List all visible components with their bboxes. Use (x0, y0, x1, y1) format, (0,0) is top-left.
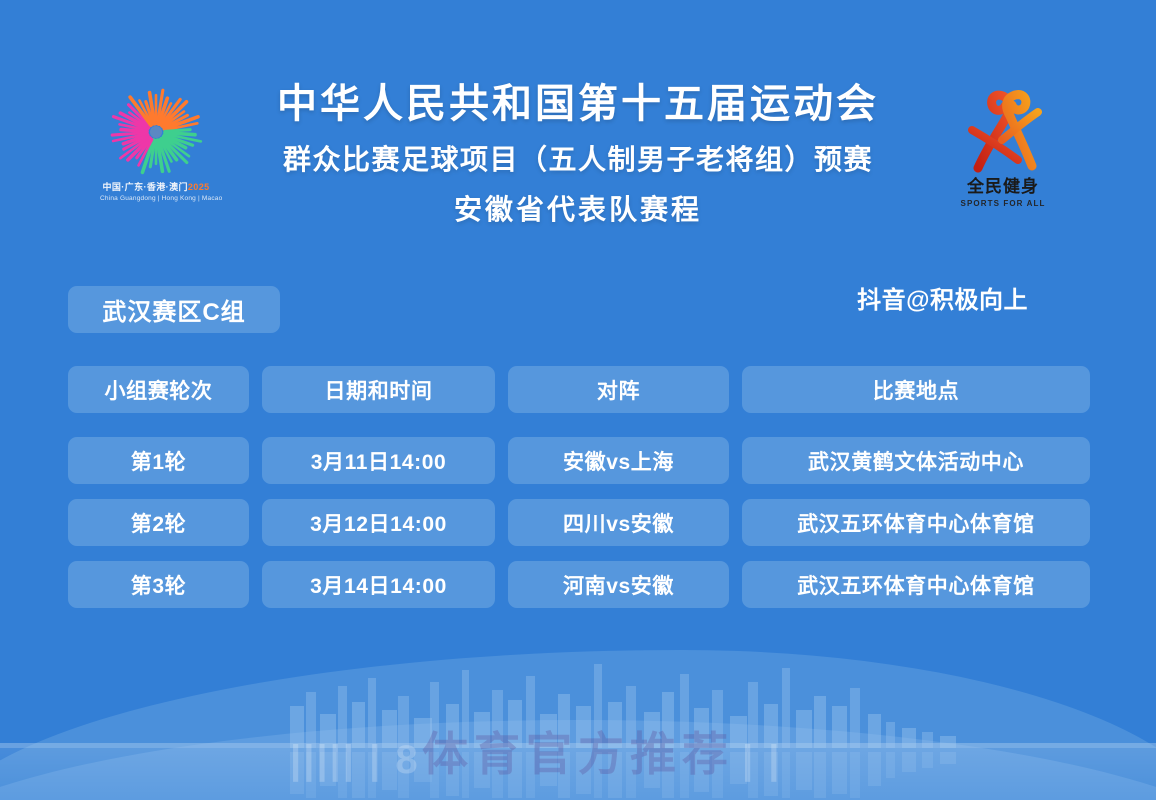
column-header-matchup: 对阵 (508, 366, 729, 413)
skyline-building (764, 704, 778, 748)
cell-datetime: 3月11日14:00 (262, 437, 495, 484)
cell-round: 第3轮 (68, 561, 249, 608)
group-badge: 武汉赛区C组 (68, 286, 280, 333)
skyline-building (712, 690, 723, 748)
skyline-building (782, 668, 790, 748)
skyline-building (446, 704, 459, 748)
cell-matchup: 四川vs安徽 (508, 499, 729, 546)
skyline-building (662, 692, 674, 748)
two-figures-icon (958, 82, 1050, 174)
cell-matchup: 河南vs安徽 (508, 561, 729, 608)
skyline-building (508, 700, 522, 748)
skyline-building (576, 706, 591, 748)
skyline-building (368, 678, 376, 748)
cell-datetime: 3月12日14:00 (262, 499, 495, 546)
skyline-building (352, 702, 365, 748)
column-header-round: 小组赛轮次 (68, 366, 249, 413)
skyline-building (462, 670, 469, 748)
skyline-building (338, 686, 347, 748)
sports-for-all-caption-en: SPORTS FOR ALL (948, 199, 1058, 208)
table-row: 第1轮 3月11日14:00 安徽vs上海 武汉黄鹤文体活动中心 (68, 437, 1090, 484)
skyline-building (430, 682, 439, 748)
skyline-building (832, 706, 847, 748)
skyline-building (558, 694, 570, 748)
sports-for-all-caption-cn: 全民健身 (948, 172, 1058, 197)
skyline-building (850, 688, 860, 748)
skyline-building (594, 664, 602, 748)
skyline-building (398, 696, 409, 748)
skyline-building (290, 706, 304, 748)
emblem-caption-cn-text: 中国·广东·香港·澳门 (102, 182, 187, 192)
emblem-caption: 中国·广东·香港·澳门2025 China Guangdong | Hong K… (100, 180, 212, 202)
skyline-building (492, 690, 503, 748)
water-reflection (0, 748, 1156, 800)
cell-matchup: 安徽vs上海 (508, 437, 729, 484)
skyline-building (608, 702, 622, 748)
sports-for-all-caption: 全民健身 SPORTS FOR ALL (948, 172, 1058, 208)
column-header-venue: 比赛地点 (742, 366, 1090, 413)
emblem-fan-icon (103, 84, 209, 180)
table-row: 第3轮 3月14日14:00 河南vs安徽 武汉五环体育中心体育馆 (68, 561, 1090, 608)
cell-venue: 武汉五环体育中心体育馆 (742, 561, 1090, 608)
table-header-row: 小组赛轮次 日期和时间 对阵 比赛地点 (68, 366, 1090, 413)
cell-venue: 武汉黄鹤文体活动中心 (742, 437, 1090, 484)
sports-for-all-logo: 全民健身 SPORTS FOR ALL (948, 82, 1058, 207)
emblem-caption-en: China Guangdong | Hong Kong | Macao (100, 195, 212, 202)
skyline-building (526, 676, 535, 748)
schedule-table: 小组赛轮次 日期和时间 对阵 比赛地点 第1轮 3月11日14:00 安徽vs上… (68, 366, 1090, 608)
skyline-building (814, 696, 826, 748)
table-row: 第2轮 3月12日14:00 四川vs安徽 武汉五环体育中心体育馆 (68, 499, 1090, 546)
douyin-handle: 抖音@积极向上 (857, 280, 1028, 315)
poster-canvas: 中国·广东·香港·澳门2025 China Guangdong | Hong K… (0, 0, 1156, 800)
skyline-building (694, 708, 709, 748)
cell-datetime: 3月14日14:00 (262, 561, 495, 608)
games-emblem-logo: 中国·广东·香港·澳门2025 China Guangdong | Hong K… (100, 84, 212, 206)
cell-round: 第2轮 (68, 499, 249, 546)
skyline-building (748, 682, 758, 748)
cell-round: 第1轮 (68, 437, 249, 484)
skyline-building (680, 674, 689, 748)
cell-venue: 武汉五环体育中心体育馆 (742, 499, 1090, 546)
column-header-datetime: 日期和时间 (262, 366, 495, 413)
emblem-caption-year: 2025 (188, 182, 210, 192)
skyline-building (626, 686, 636, 748)
emblem-caption-cn: 中国·广东·香港·澳门2025 (100, 180, 212, 193)
skyline-building (306, 692, 316, 748)
